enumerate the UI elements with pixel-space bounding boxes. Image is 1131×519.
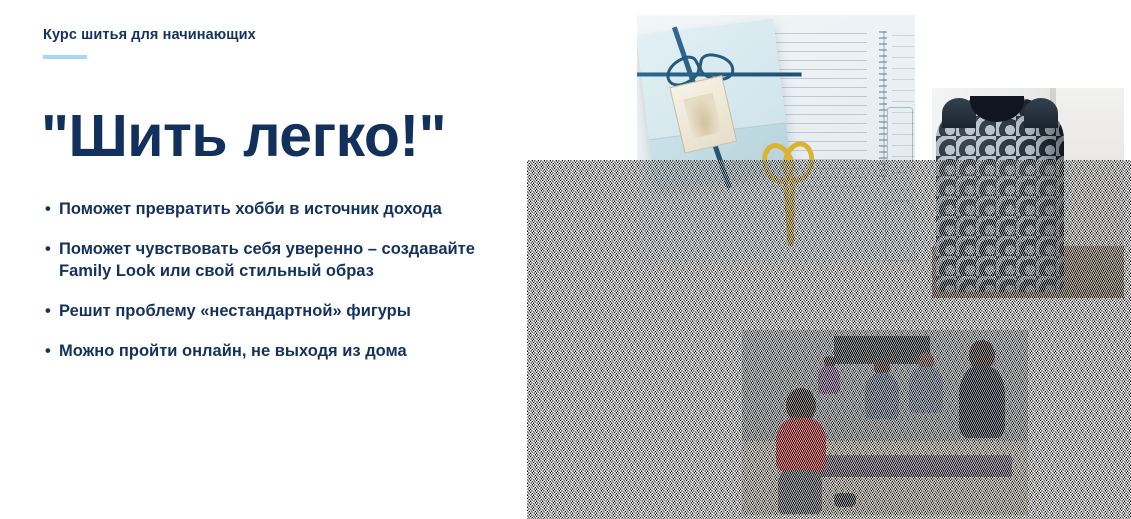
hero-banner: Курс шитья для начинающих "Шить легко!" … — [0, 0, 1131, 519]
benefit-item: Поможет превратить хобби в источник дохо… — [45, 198, 545, 220]
benefit-item: Поможет чувствовать себя уверенно – созд… — [45, 238, 545, 282]
benefit-item: Можно пройти онлайн, не выходя из дома — [45, 340, 545, 362]
page-title: "Шить легко!" — [41, 104, 446, 168]
hero-divider-rule — [43, 55, 87, 59]
hero-eyebrow: Курс шитья для начинающих — [43, 27, 256, 43]
dress-shoulder-right — [1024, 98, 1058, 128]
benefits-list: Поможет превратить хобби в источник дохо… — [45, 198, 545, 380]
hero-text-column: Курс шитья для начинающих "Шить легко!" … — [43, 0, 563, 519]
dress-neckline — [970, 96, 1024, 122]
benefit-item: Решит проблему «нестандартной» фигуры — [45, 300, 545, 322]
